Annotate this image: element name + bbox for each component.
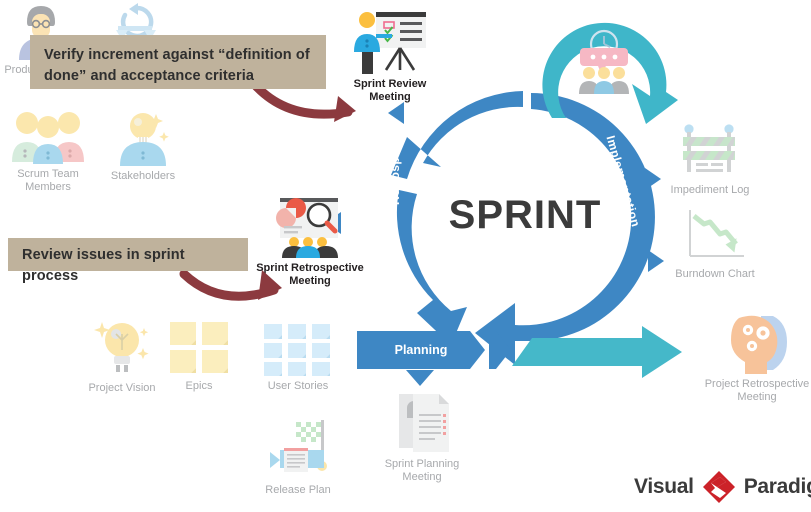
sprint-retrospective-meeting-icon (274, 196, 346, 258)
sprint-review-meeting-icon (350, 8, 430, 74)
arrow-to-sprint-review (388, 102, 404, 124)
node-user-stories: User Stories (258, 322, 338, 393)
impediment-log-icon (677, 124, 743, 180)
logo-word-paradigm: Paradigm (744, 475, 811, 499)
daily-scrum-meeting-icon (568, 24, 640, 96)
callout-verify-increment-text: Verify increment against “definition of … (44, 47, 310, 84)
node-stakeholders: Stakeholders (100, 110, 186, 183)
burndown-chart-label: Burndown Chart (675, 268, 755, 281)
visual-paradigm-logo: Visual Paradigm (634, 470, 811, 504)
project-retrospective-meeting-label-line1: Project Retrospective (705, 378, 810, 391)
arrow-to-impediment-log (645, 168, 661, 190)
project-vision-icon (91, 316, 153, 378)
logo-word-visual: Visual (634, 475, 694, 499)
stakeholders-icon (112, 110, 174, 166)
callout-verify-increment: Verify increment against “definition of … (30, 35, 326, 89)
scrum-team-members-label-line2: Members (25, 181, 71, 194)
release-plan-label: Release Plan (265, 484, 330, 497)
project-retrospective-arrow (512, 322, 712, 382)
arrow-to-burndown-chart (648, 250, 664, 272)
node-impediment-log: Impediment Log (660, 124, 760, 197)
callout-review-issues-text: Review issues in sprint process (22, 247, 185, 284)
sprint-planning-meeting-label-line2: Meeting (402, 471, 441, 484)
vp-diamond-icon (702, 470, 736, 504)
planning-stage-chevron: Planning (357, 331, 485, 369)
project-retrospective-meeting-label-line2: Meeting (737, 391, 776, 404)
epics-label: Epics (186, 380, 213, 393)
user-stories-icon (262, 322, 334, 376)
epics-icon (168, 320, 230, 376)
release-plan-icon (262, 418, 334, 480)
scrum-sprint-diagram: Review Retrospect Implementation SPRINT … (0, 0, 811, 512)
scrum-team-members-icon (10, 110, 86, 164)
node-project-vision: Project Vision (78, 316, 166, 395)
user-stories-label: User Stories (268, 380, 329, 393)
sprint-planning-meeting-label-line1: Sprint Planning (385, 458, 460, 471)
node-burndown-chart: Burndown Chart (665, 208, 765, 281)
node-release-plan: Release Plan (258, 418, 338, 497)
sprint-center-label: SPRINT (430, 193, 620, 238)
stakeholders-label: Stakeholders (111, 170, 175, 183)
sprint-review-meeting-label-line2: Meeting (369, 91, 411, 104)
project-retrospective-meeting-icon (721, 312, 793, 374)
node-epics: Epics (168, 320, 230, 393)
scrum-team-members-label-line1: Scrum Team (17, 168, 79, 181)
callout-review-issues: Review issues in sprint process (8, 238, 248, 271)
project-vision-label: Project Vision (88, 382, 155, 395)
sprint-planning-meeting-icon (389, 392, 455, 454)
planning-down-arrow (406, 370, 434, 386)
burndown-chart-icon (682, 208, 748, 264)
ring-label-retrospect: Retrospect (388, 138, 402, 205)
review-arc (391, 91, 523, 179)
impediment-log-label: Impediment Log (671, 184, 750, 197)
planning-label: Planning (395, 343, 448, 357)
node-scrum-team-members: Scrum Team Members (0, 110, 96, 193)
node-sprint-planning-meeting: Sprint Planning Meeting (372, 392, 472, 483)
node-project-retrospective-meeting: Project Retrospective Meeting (703, 312, 811, 403)
annotation-arrow-to-sprint-retrospective (178, 268, 296, 312)
